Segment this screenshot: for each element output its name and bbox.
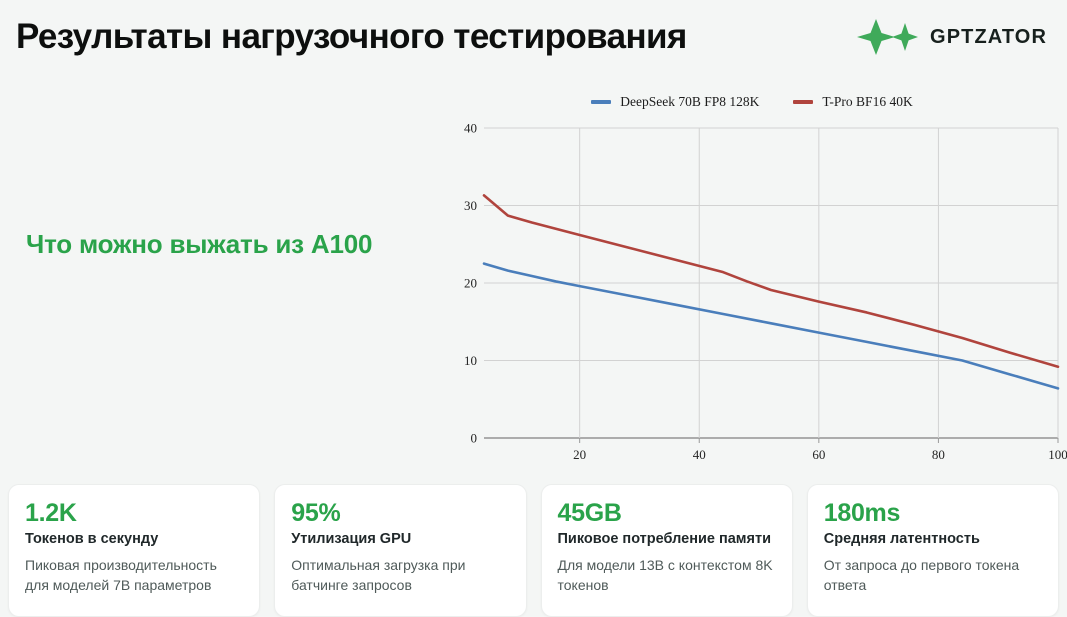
x-axis-tick-label: 60 bbox=[812, 447, 825, 462]
stat-label: Пиковое потребление памяти bbox=[558, 531, 776, 548]
stat-description: Оптимальная загрузка при батчинге запрос… bbox=[291, 556, 509, 596]
stat-label: Токенов в секунду bbox=[25, 531, 243, 548]
stat-description: Для модели 13B с контекстом 8K токенов bbox=[558, 556, 776, 596]
stat-card-throughput: 1.2K Токенов в секунду Пиковая производи… bbox=[8, 484, 260, 617]
legend-item-deepseek[interactable]: DeepSeek 70B FP8 128K bbox=[591, 94, 759, 110]
stat-value: 180ms bbox=[824, 499, 1042, 527]
chart-plot-area: 01020304020406080100 bbox=[452, 120, 1067, 472]
stat-value: 95% bbox=[291, 499, 509, 527]
brand-logo: GPTZATOR bbox=[852, 16, 1049, 58]
legend-swatch-tpro bbox=[793, 100, 813, 104]
page-title: Результаты нагрузочного тестирования bbox=[16, 17, 687, 57]
stat-value: 1.2K bbox=[25, 499, 243, 527]
stat-card-latency: 180ms Средняя латентность От запроса до … bbox=[807, 484, 1059, 617]
x-axis-tick-label: 100 bbox=[1048, 447, 1067, 462]
four-point-star-icon bbox=[852, 16, 920, 58]
chart-series-line-1 bbox=[484, 195, 1058, 366]
y-axis-tick-label: 40 bbox=[464, 121, 477, 136]
stat-card-peak-memory: 45GB Пиковое потребление памяти Для моде… bbox=[541, 484, 793, 617]
left-pane: Что можно выжать из A100 bbox=[0, 74, 452, 474]
page-header: Результаты нагрузочного тестирования GPT… bbox=[0, 0, 1067, 74]
stat-label: Утилизация GPU bbox=[291, 531, 509, 548]
brand-name: GPTZATOR bbox=[930, 26, 1047, 49]
stat-card-gpu-utilization: 95% Утилизация GPU Оптимальная загрузка … bbox=[274, 484, 526, 617]
y-axis-tick-label: 30 bbox=[464, 198, 477, 213]
legend-label-deepseek: DeepSeek 70B FP8 128K bbox=[620, 94, 759, 110]
x-axis-tick-label: 40 bbox=[693, 447, 706, 462]
y-axis-tick-label: 10 bbox=[464, 353, 477, 368]
legend-item-tpro[interactable]: T-Pro BF16 40K bbox=[793, 94, 912, 110]
chart-series-line-0 bbox=[484, 264, 1058, 389]
stat-description: От запроса до первого токена ответа bbox=[824, 556, 1042, 596]
chart-svg: 01020304020406080100 bbox=[452, 120, 1067, 472]
y-axis-tick-label: 0 bbox=[471, 431, 478, 446]
x-axis-tick-label: 80 bbox=[932, 447, 945, 462]
performance-line-chart: DeepSeek 70B FP8 128K T-Pro BF16 40K 010… bbox=[452, 80, 1067, 475]
chart-legend: DeepSeek 70B FP8 128K T-Pro BF16 40K bbox=[452, 94, 1052, 110]
legend-swatch-deepseek bbox=[591, 100, 611, 104]
y-axis-tick-label: 20 bbox=[464, 276, 477, 291]
stats-cards-row: 1.2K Токенов в секунду Пиковая производи… bbox=[0, 484, 1067, 617]
stat-label: Средняя латентность bbox=[824, 531, 1042, 548]
section-caption: Что можно выжать из A100 bbox=[26, 229, 372, 260]
legend-label-tpro: T-Pro BF16 40K bbox=[822, 94, 912, 110]
stat-description: Пиковая производительность для моделей 7… bbox=[25, 556, 243, 596]
x-axis-tick-label: 20 bbox=[573, 447, 586, 462]
stat-value: 45GB bbox=[558, 499, 776, 527]
